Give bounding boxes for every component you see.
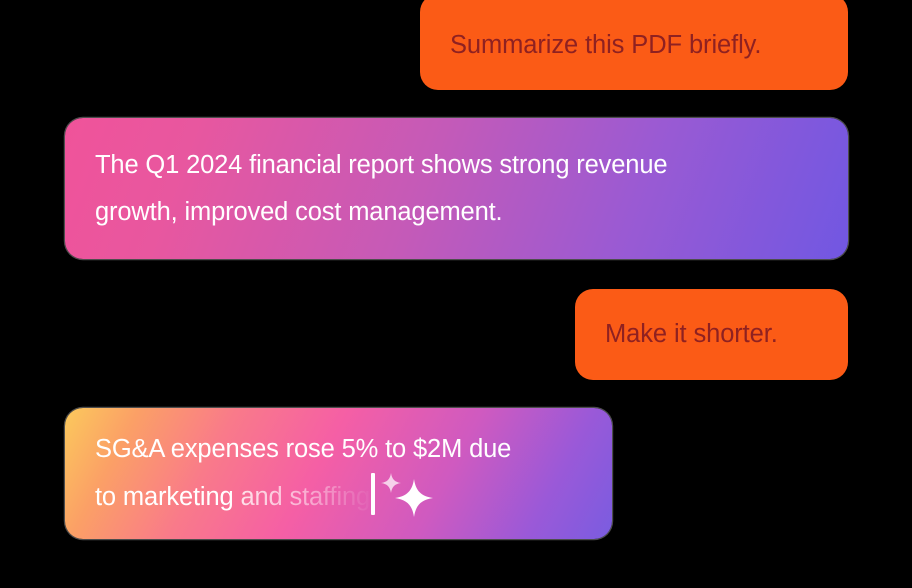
text-caret	[371, 473, 375, 515]
message-text-solid: to marketing	[95, 483, 240, 511]
chat-canvas: Summarize this PDF briefly. The Q1 2024 …	[0, 0, 912, 588]
message-bubble-assistant-1[interactable]: The Q1 2024 financial report shows stron…	[65, 118, 848, 259]
message-text-line-2: to marketing and staffing	[95, 473, 582, 521]
sparkle-large-icon	[395, 479, 433, 517]
message-bubble-user-2[interactable]: Make it shorter.	[575, 289, 848, 380]
message-text: Make it shorter.	[605, 319, 778, 350]
message-bubble-user-1[interactable]: Summarize this PDF briefly.	[420, 0, 848, 90]
message-text-line-2: growth, improved cost management.	[95, 189, 818, 236]
sparkle-cluster	[377, 473, 435, 515]
message-bubble-assistant-2[interactable]: SG&A expenses rose 5% to $2M due to mark…	[65, 408, 612, 539]
message-text-line-1: The Q1 2024 financial report shows stron…	[95, 142, 818, 189]
message-text-line-1: SG&A expenses rose 5% to $2M due	[95, 426, 582, 473]
message-text: Summarize this PDF briefly.	[450, 24, 761, 61]
message-text-streaming: and staffing	[240, 483, 370, 511]
